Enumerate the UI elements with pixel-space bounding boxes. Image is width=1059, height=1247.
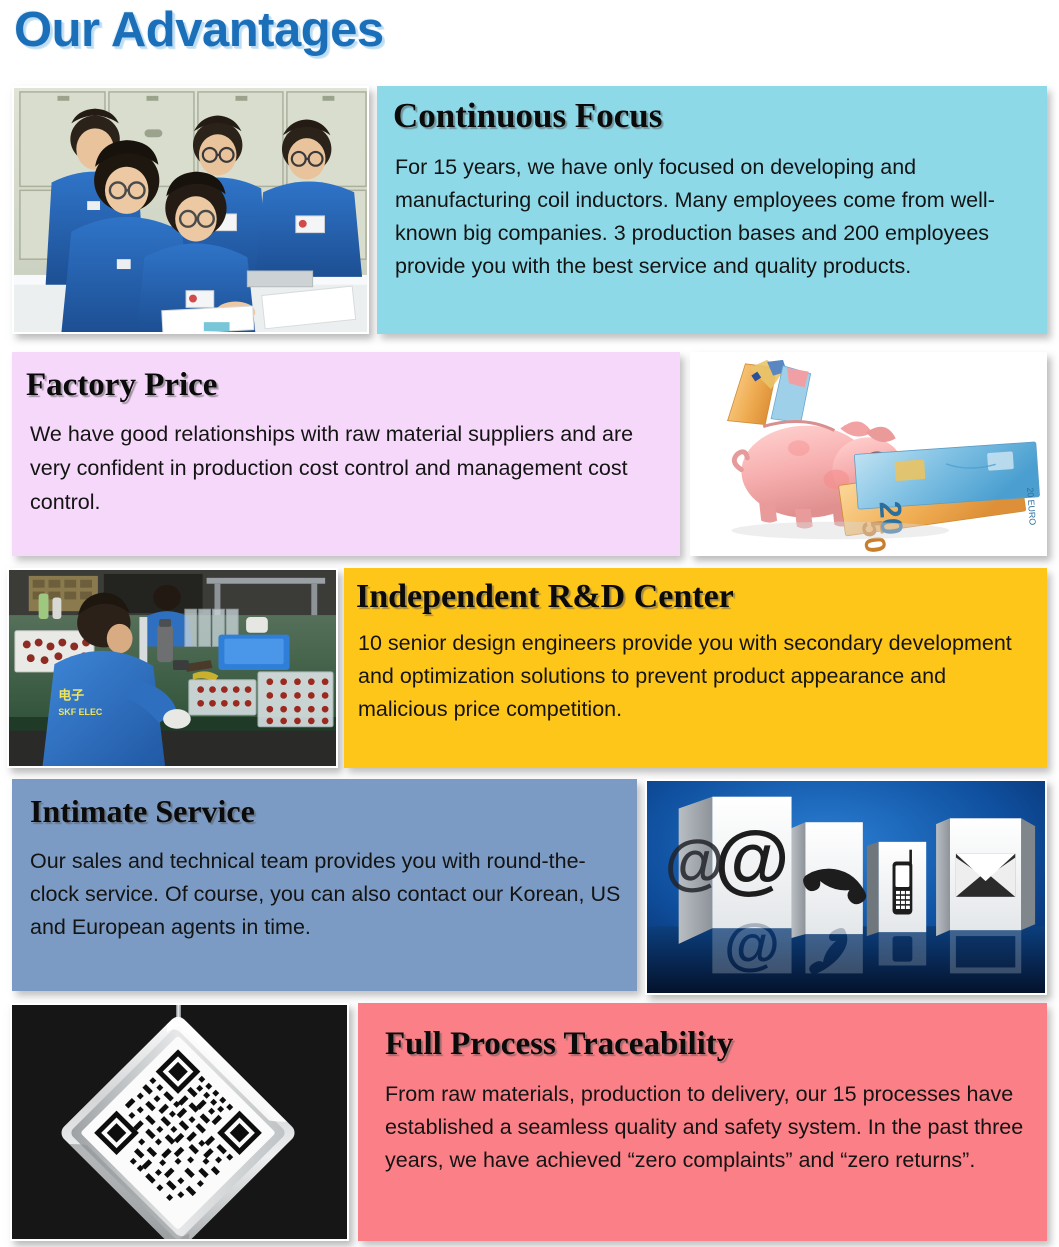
block-factory-price: Factory Price We have good relationships… <box>12 352 680 556</box>
block-heading-service: Intimate Service <box>12 779 637 829</box>
svg-text:电子: 电子 <box>58 687 84 702</box>
block-full-process-traceability: Full Process Traceability From raw mater… <box>358 1003 1047 1241</box>
block-body-rd: 10 senior design engineers provide you w… <box>344 615 1047 726</box>
block-body-service: Our sales and technical team provides yo… <box>12 829 637 944</box>
piggy-bank-euro-notes-photo: 50 20 20 EURO <box>690 352 1047 556</box>
contact-icon-cubes-photo: @ @ @ <box>645 779 1047 995</box>
block-independent-rd-center: Independent R&D Center 10 senior design … <box>344 568 1047 768</box>
block-body-trace: From raw materials, production to delive… <box>358 1062 1047 1177</box>
rd-workbench-photo: 电子 SKF ELEC <box>7 568 338 768</box>
svg-text:@: @ <box>665 828 725 896</box>
block-heading-trace: Full Process Traceability <box>358 1003 1047 1062</box>
block-heading-focus: Continuous Focus <box>377 86 1047 135</box>
block-heading-price: Factory Price <box>12 352 680 403</box>
svg-text:@: @ <box>724 913 780 977</box>
block-intimate-service: Intimate Service Our sales and technical… <box>12 779 637 991</box>
factory-workers-photo <box>12 86 369 334</box>
block-body-focus: For 15 years, we have only focused on de… <box>377 135 1047 283</box>
page-title: Our Advantages <box>14 2 384 58</box>
qr-code-tag-photo <box>10 1003 349 1241</box>
svg-text:@: @ <box>714 816 789 902</box>
block-continuous-focus: Continuous Focus For 15 years, we have o… <box>377 86 1047 334</box>
svg-text:SKF ELEC: SKF ELEC <box>58 707 103 717</box>
block-heading-rd: Independent R&D Center <box>344 568 1047 615</box>
block-body-price: We have good relationships with raw mate… <box>12 403 680 519</box>
